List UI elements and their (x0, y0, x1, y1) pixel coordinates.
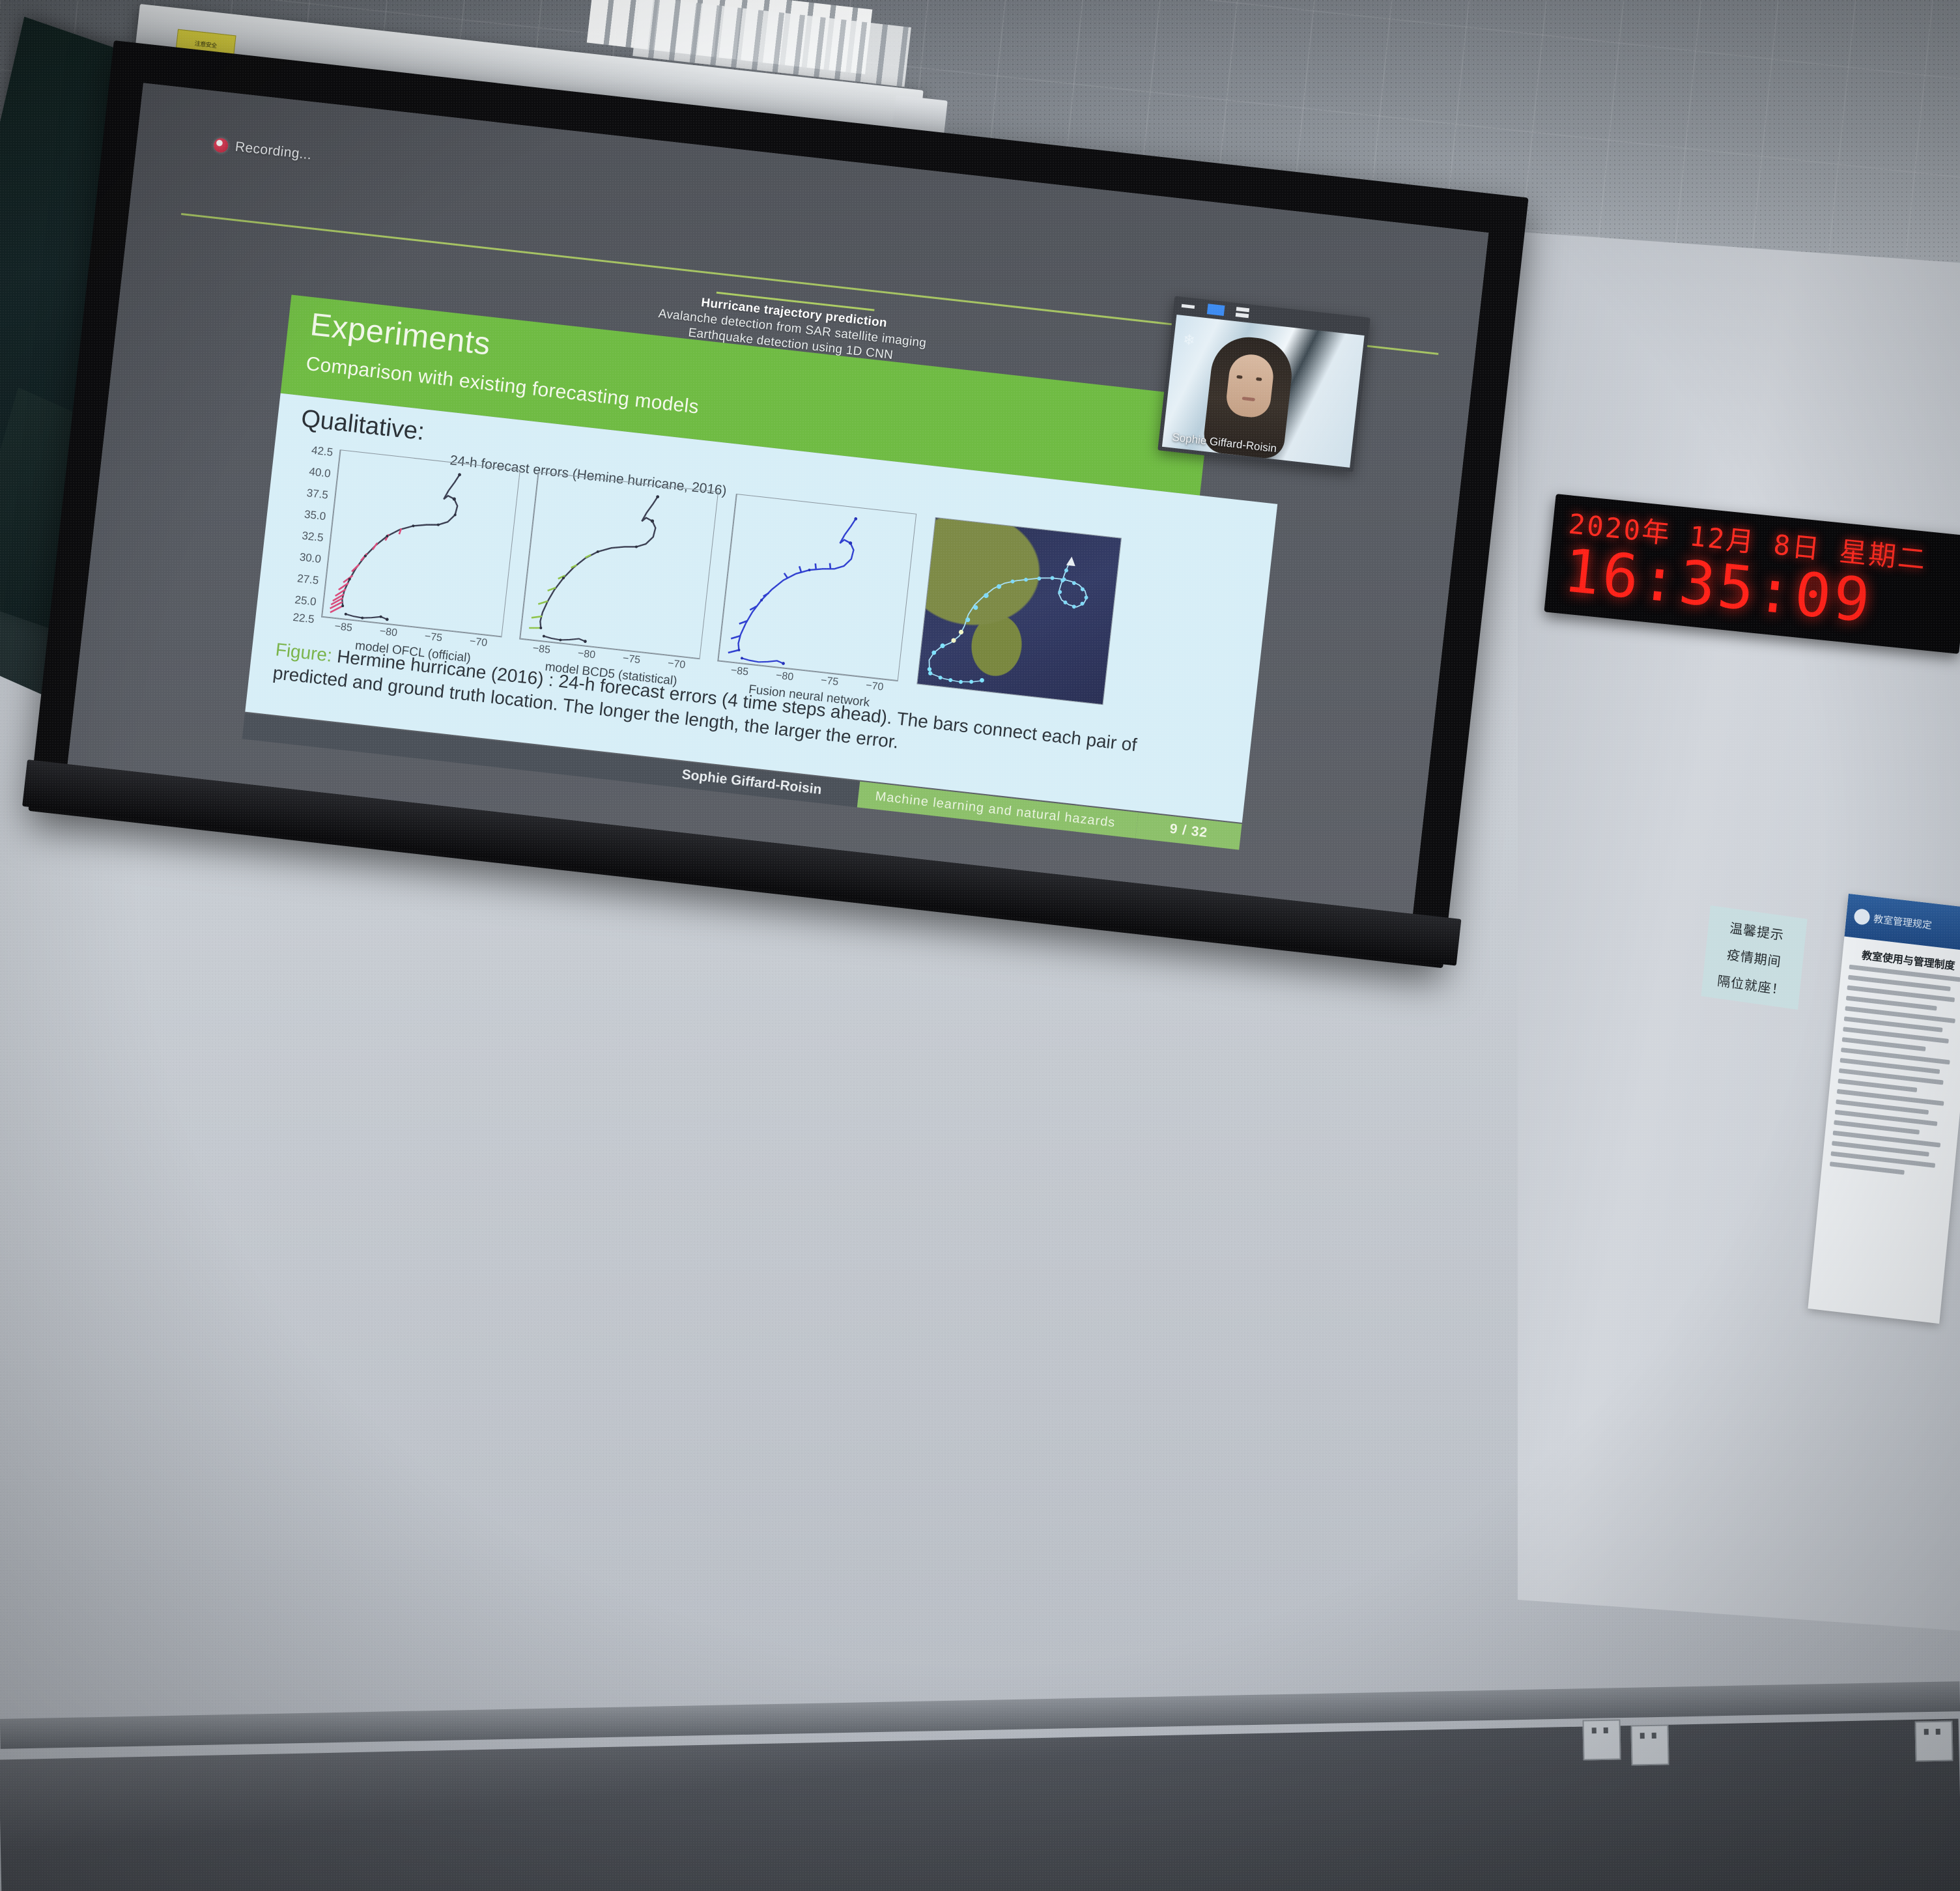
poster-body (1829, 965, 1960, 1186)
x-tick: −85 (532, 643, 551, 657)
recording-indicator[interactable]: Recording... (213, 137, 313, 164)
notice-line-1: 温馨提示 (1729, 918, 1785, 945)
x-tick: −70 (667, 658, 686, 672)
classroom-photo: 注意安全 BENQ Recording... Hurrica (0, 0, 1960, 1891)
poster-header-text: 教室管理规定 (1873, 911, 1932, 931)
x-tick: −75 (820, 675, 839, 689)
panel-track-svg (520, 472, 718, 659)
y-tick: 35.0 (289, 506, 326, 523)
eye-right (1256, 377, 1262, 381)
x-tick: −70 (865, 680, 884, 694)
chart-panel-ofcl: −85 −80 −75 −70 model OFCL (official) (321, 449, 520, 637)
y-tick: 25.0 (279, 592, 317, 609)
video-feed: ❄ Sophie Giffard-Roisin (1162, 315, 1365, 468)
y-tick: 42.5 (296, 442, 334, 459)
x-tick: −85 (730, 665, 749, 679)
chart-panel-bcd5: −85 −80 −75 −70 model BCD5 (statistical) (519, 472, 718, 659)
projector-screen: Recording... Hurricane trajectory predic… (0, 40, 1529, 1584)
figure-caption-prefix: Figure: (274, 639, 333, 665)
y-tick: 37.5 (291, 485, 329, 502)
x-tick: −70 (469, 636, 488, 649)
y-tick: 40.0 (294, 464, 332, 481)
snowflake-icon: ❄ (1182, 331, 1196, 349)
y-tick: 22.5 (277, 609, 315, 626)
record-dot-icon (213, 137, 229, 153)
slide-title: Experiments (309, 306, 492, 362)
slide: Hurricane trajectory prediction Avalanch… (242, 249, 1294, 853)
panel-track-svg (322, 449, 520, 636)
wall-outlet (1630, 1724, 1669, 1765)
minimize-icon[interactable] (1180, 301, 1198, 313)
panel-track-svg (718, 494, 916, 681)
satellite-track-svg (917, 518, 1121, 704)
maximize-icon[interactable] (1207, 304, 1225, 316)
y-tick: 32.5 (287, 528, 324, 545)
y-tick: 30.0 (284, 549, 322, 566)
satellite-map-panel (916, 517, 1122, 705)
x-tick: −80 (775, 670, 794, 683)
x-tick: −80 (379, 626, 398, 640)
notice-line-3: 隔位就座！ (1716, 970, 1786, 998)
x-tick: −75 (622, 653, 641, 666)
chart-panel-fusion: −85 −80 −75 −70 Fusion neural network (717, 494, 916, 681)
restore-icon[interactable] (1234, 307, 1253, 319)
x-tick: −75 (424, 631, 443, 644)
poster-logo-icon (1853, 908, 1870, 926)
mouth (1242, 397, 1255, 401)
notice-line-2: 疫情期间 (1726, 945, 1782, 971)
eye-left (1236, 375, 1242, 379)
x-tick: −85 (334, 621, 353, 634)
poster-text-line (1830, 1161, 1904, 1174)
wall-outlet (1582, 1719, 1621, 1760)
y-tick: 27.5 (281, 571, 319, 588)
zoom-video-panel[interactable]: ❄ Sophie Giffard-Roisin (1158, 296, 1370, 472)
recording-label: Recording... (234, 139, 313, 164)
x-tick: −80 (577, 648, 596, 662)
covid-notice-sign: 温馨提示 疫情期间 隔位就座！ (1701, 905, 1807, 1010)
wall-outlet (1914, 1720, 1953, 1761)
